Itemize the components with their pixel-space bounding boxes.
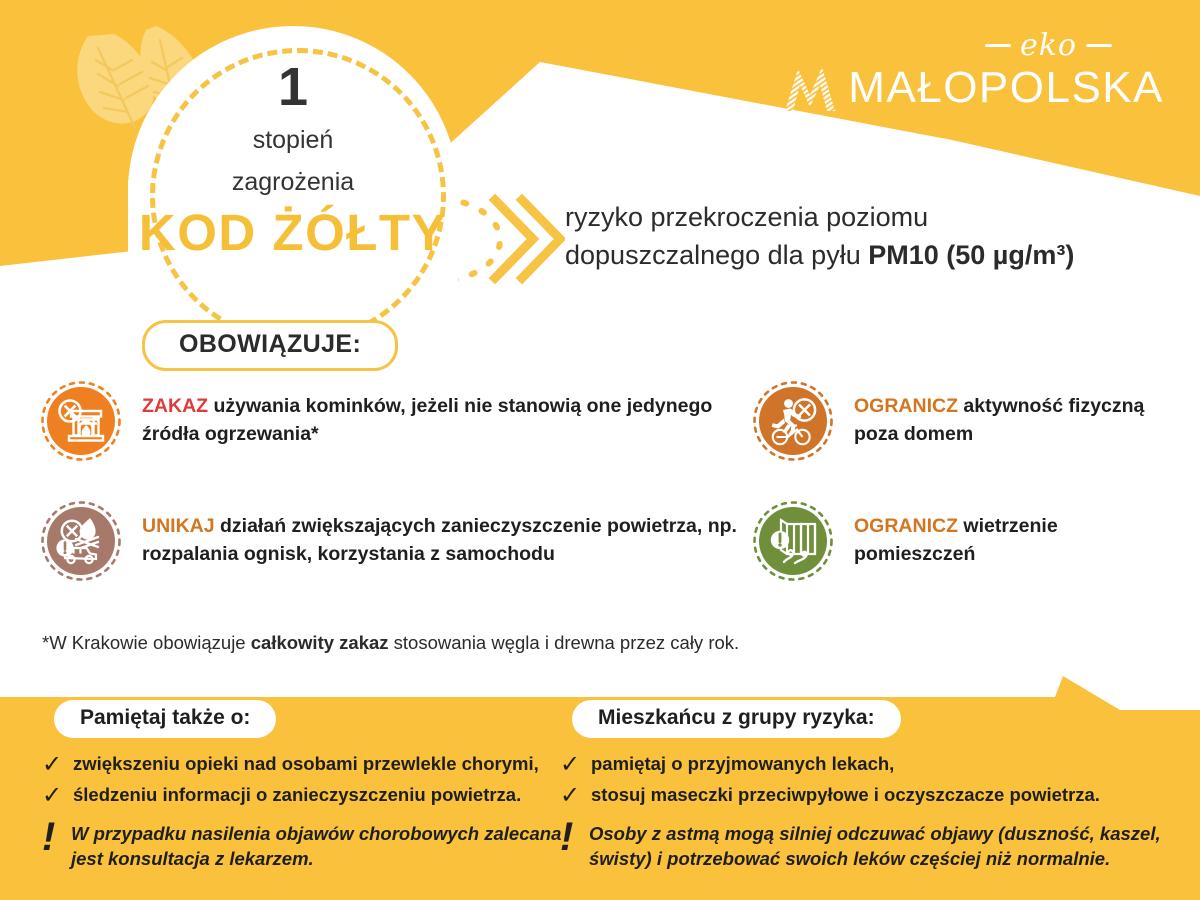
- rule-item: OGRANICZ aktywność fizyczną poza domem: [752, 380, 1170, 462]
- exclamation-icon: !: [42, 821, 58, 854]
- open-window-warning-icon: [752, 500, 834, 582]
- icon-disc: [47, 507, 115, 575]
- rule-body: używania kominków, jeżeli nie stanowią o…: [142, 395, 712, 445]
- risk-group-check-list: ✓ pamiętaj o przyjmowanych lekach, ✓ sto…: [560, 752, 1190, 807]
- campfire-car-glyph: [54, 514, 108, 568]
- infographic-poster: 1 stopień zagrożenia KOD ŻÓŁTY eko MAŁOP…: [0, 0, 1200, 900]
- exclamation-icon: !: [560, 821, 576, 854]
- open-window-glyph: [766, 514, 820, 568]
- risk-group-title-pill: Mieszkańcu z grupy ryzyka:: [572, 700, 901, 738]
- list-item: ✓ pamiętaj o przyjmowanych lekach,: [560, 752, 1190, 776]
- list-item: ✓ śledzeniu informacji o zanieczyszczeni…: [42, 783, 562, 807]
- degree-label-line2: zagrożenia: [128, 168, 458, 198]
- list-item-label: pamiętaj o przyjmowanych lekach,: [591, 752, 894, 776]
- bottom-panel: Pamiętaj także o: ✓ zwiększeniu opieki n…: [0, 700, 1200, 900]
- bottom-right-column: Mieszkańcu z grupy ryzyka: ✓ pamiętaj o …: [560, 700, 1190, 871]
- chevron-double-right-icon: [487, 190, 565, 288]
- campfire-car-warning-icon: [40, 500, 122, 582]
- rule-text: ZAKAZ używania kominków, jeżeli nie stan…: [142, 380, 752, 448]
- remember-check-list: ✓ zwiększeniu opieki nad osobami przewle…: [42, 752, 562, 807]
- mountain-m-mark-icon: [782, 61, 838, 115]
- icon-disc: [759, 507, 827, 575]
- headline: ryzyko przekroczenia poziomu dopuszczaln…: [565, 198, 1195, 275]
- list-item: ✓ stosuj maseczki przeciwpyłowe i oczysz…: [560, 783, 1190, 807]
- fireplace-glyph: [55, 395, 107, 447]
- warning-text: W przypadku nasilenia objawów chorobowyc…: [71, 821, 562, 871]
- check-icon: ✓: [42, 783, 62, 807]
- check-icon: ✓: [560, 783, 580, 807]
- degree-number: 1: [128, 60, 458, 114]
- warning-note: ! Osoby z astmą mogą silniej odczuwać ob…: [560, 821, 1190, 871]
- list-item-label: stosuj maseczki przeciwpyłowe i oczyszcz…: [591, 783, 1100, 807]
- rule-item: ZAKAZ używania kominków, jeżeli nie stan…: [40, 380, 752, 462]
- list-item-label: śledzeniu informacji o zanieczyszczeniu …: [73, 783, 521, 807]
- logo-dash-left: [985, 44, 1011, 47]
- footnote-prefix: *W Krakowie obowiązuje: [42, 632, 251, 653]
- obligation-pill: OBOWIĄZUJE:: [142, 320, 398, 371]
- rule-keyword: UNIKAJ: [142, 515, 215, 537]
- list-item: ✓ zwiększeniu opieki nad osobami przewle…: [42, 752, 562, 776]
- logo-eko-text: eko: [1020, 28, 1077, 63]
- logo-region-name: MAŁOPOLSKA: [848, 63, 1164, 113]
- runner-bicycle-glyph: [766, 394, 820, 448]
- logo-dash-right: [1086, 44, 1112, 47]
- footnote-bold: całkowity zakaz: [251, 632, 389, 653]
- degree-badge-content: 1 stopień zagrożenia KOD ŻÓŁTY: [128, 60, 458, 258]
- rule-keyword: ZAKAZ: [142, 395, 208, 417]
- degree-label-line1: stopień: [128, 126, 458, 156]
- warning-note: ! W przypadku nasilenia objawów chorobow…: [42, 821, 562, 871]
- warning-text: Osoby z astmą mogą silniej odczuwać obja…: [589, 821, 1190, 871]
- rule-item: UNIKAJ działań zwiększających zanieczysz…: [40, 500, 752, 582]
- rule-keyword: OGRANICZ: [854, 395, 958, 417]
- rule-text: UNIKAJ działań zwiększających zanieczysz…: [142, 500, 752, 568]
- footnote-suffix: stosowania węgla i drewna przez cały rok…: [389, 632, 740, 653]
- logo: eko MAŁOPOLSKA: [782, 28, 1164, 115]
- rules-grid: ZAKAZ używania kominków, jeżeli nie stan…: [40, 380, 1170, 582]
- remember-title-pill: Pamiętaj także o:: [54, 700, 276, 738]
- list-item-label: zwiększeniu opieki nad osobami przewlekl…: [73, 752, 539, 776]
- rule-body: działań zwiększających zanieczyszczenie …: [142, 515, 737, 565]
- fireplace-prohibited-icon: [40, 380, 122, 462]
- headline-line-2: dopuszczalnego dla pyłu PM10 (50 µg/m³): [565, 236, 1195, 274]
- check-icon: ✓: [42, 752, 62, 776]
- logo-main-row: MAŁOPOLSKA: [782, 61, 1164, 115]
- rule-keyword: OGRANICZ: [854, 515, 958, 537]
- headline-line-2-plain: dopuszczalnego dla pyłu: [565, 240, 868, 270]
- headline-line-1: ryzyko przekroczenia poziomu: [565, 198, 1195, 236]
- logo-eko-wordmark: eko: [782, 28, 1112, 63]
- code-color-label: KOD ŻÓŁTY: [128, 207, 458, 258]
- headline-line-2-bold: PM10 (50 µg/m³): [868, 240, 1074, 270]
- footnote: *W Krakowie obowiązuje całkowity zakaz s…: [42, 632, 739, 654]
- icon-disc: [759, 387, 827, 455]
- check-icon: ✓: [560, 752, 580, 776]
- rule-text: OGRANICZ wietrzenie pomieszczeń: [854, 500, 1170, 568]
- icon-disc: [47, 387, 115, 455]
- rule-item: OGRANICZ wietrzenie pomieszczeń: [752, 500, 1170, 582]
- rule-text: OGRANICZ aktywność fizyczną poza domem: [854, 380, 1170, 448]
- running-cycling-prohibited-icon: [752, 380, 834, 462]
- bottom-left-column: Pamiętaj także o: ✓ zwiększeniu opieki n…: [42, 700, 562, 871]
